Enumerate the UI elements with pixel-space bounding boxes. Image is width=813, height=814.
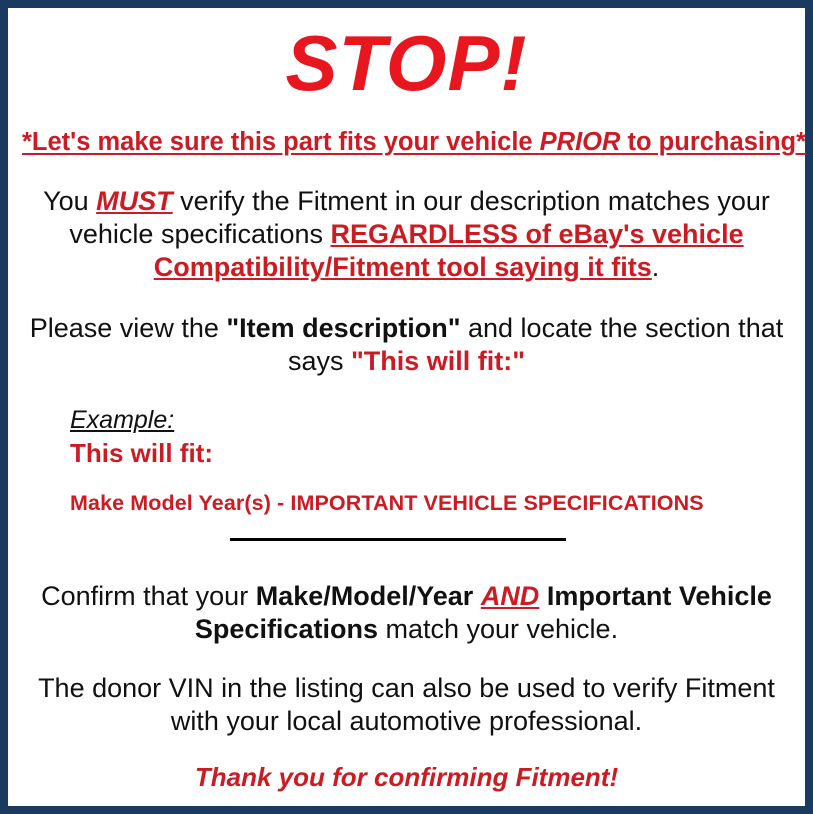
- must-text-1: You: [43, 186, 96, 216]
- subheading-text-before: *Let's make sure this part fits your veh…: [22, 128, 540, 156]
- must-text-3: .: [652, 252, 660, 282]
- confirm-text-3: [539, 581, 547, 611]
- paragraph-must-verify: You MUST verify the Fitment in our descr…: [28, 185, 785, 284]
- page-title: STOP!: [22, 24, 791, 102]
- example-spec-line: Make Model Year(s) - IMPORTANT VEHICLE S…: [70, 491, 791, 517]
- make-model-year-emphasis: Make/Model/Year: [256, 581, 474, 611]
- paragraph-donor-vin: The donor VIN in the listing can also be…: [28, 672, 785, 738]
- example-label: Example:: [70, 406, 791, 436]
- paragraph-item-description: Please view the "Item description" and l…: [28, 312, 785, 378]
- this-will-fit-emphasis: "This will fit:": [351, 346, 525, 376]
- subheading-emphasis-prior: PRIOR: [540, 128, 621, 156]
- confirm-text-1: Confirm that your: [41, 581, 256, 611]
- paragraph-confirm: Confirm that your Make/Model/Year AND Im…: [28, 580, 785, 646]
- fitment-warning-flyer: STOP! *Let's make sure this part fits yo…: [0, 0, 813, 814]
- confirm-text-4: match your vehicle.: [378, 614, 618, 644]
- confirm-text-2: [473, 581, 481, 611]
- must-emphasis: MUST: [96, 186, 173, 216]
- and-emphasis: AND: [481, 581, 540, 611]
- description-text-1: Please view the: [30, 313, 227, 343]
- subheading: *Let's make sure this part fits your veh…: [22, 128, 791, 157]
- closing-thank-you: Thank you for confirming Fitment!: [22, 762, 791, 793]
- horizontal-divider: [230, 538, 566, 541]
- example-fit-line: This will fit:: [70, 438, 791, 469]
- subheading-text-after: to purchasing*: [620, 128, 806, 156]
- divider-container: [22, 538, 791, 552]
- example-block: Example: This will fit: Make Model Year(…: [22, 406, 791, 516]
- item-description-emphasis: "Item description": [226, 313, 460, 343]
